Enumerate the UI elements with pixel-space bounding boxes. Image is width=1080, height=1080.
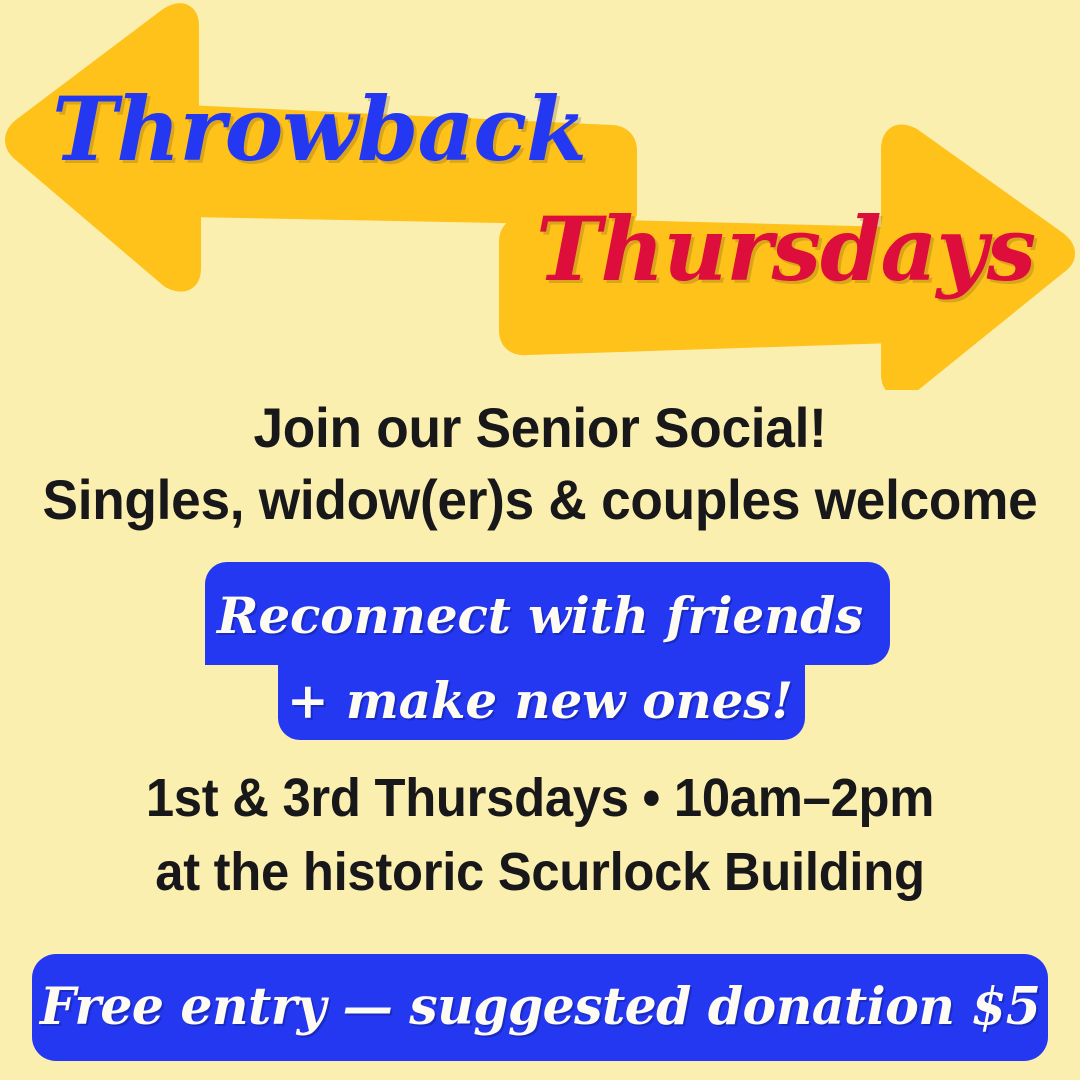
details-line-schedule: 1st & 3rd Thursdays • 10am–2pm	[32, 762, 1047, 836]
highlight-line-1: Reconnect with friends	[0, 562, 1080, 659]
highlight-block: Reconnect with friends + make new ones!	[0, 562, 1080, 742]
arrow-word-thursdays: Thursdays	[536, 205, 1035, 293]
highlight-text: Reconnect with friends + make new ones!	[0, 562, 1080, 743]
headline-line-1: Join our Senior Social!	[27, 392, 1053, 464]
bottom-banner: Free entry — suggested donation $5	[32, 954, 1048, 1061]
arrow-banner: Throwback Thursdays	[0, 0, 1080, 390]
details-line-location: at the historic Scurlock Building	[32, 836, 1047, 910]
headline-line-2: Singles, widow(er)s & couples welcome	[27, 464, 1053, 536]
arrow-word-throwback: Throwback	[52, 85, 586, 173]
highlight-line-2: + make new ones!	[0, 659, 1080, 743]
bottom-banner-text: Free entry — suggested donation $5	[40, 982, 1040, 1033]
headline-block: Join our Senior Social! Singles, widow(e…	[0, 392, 1080, 535]
poster-canvas: Throwback Thursdays Join our Senior Soci…	[0, 0, 1080, 1080]
details-block: 1st & 3rd Thursdays • 10am–2pm at the hi…	[0, 762, 1080, 910]
